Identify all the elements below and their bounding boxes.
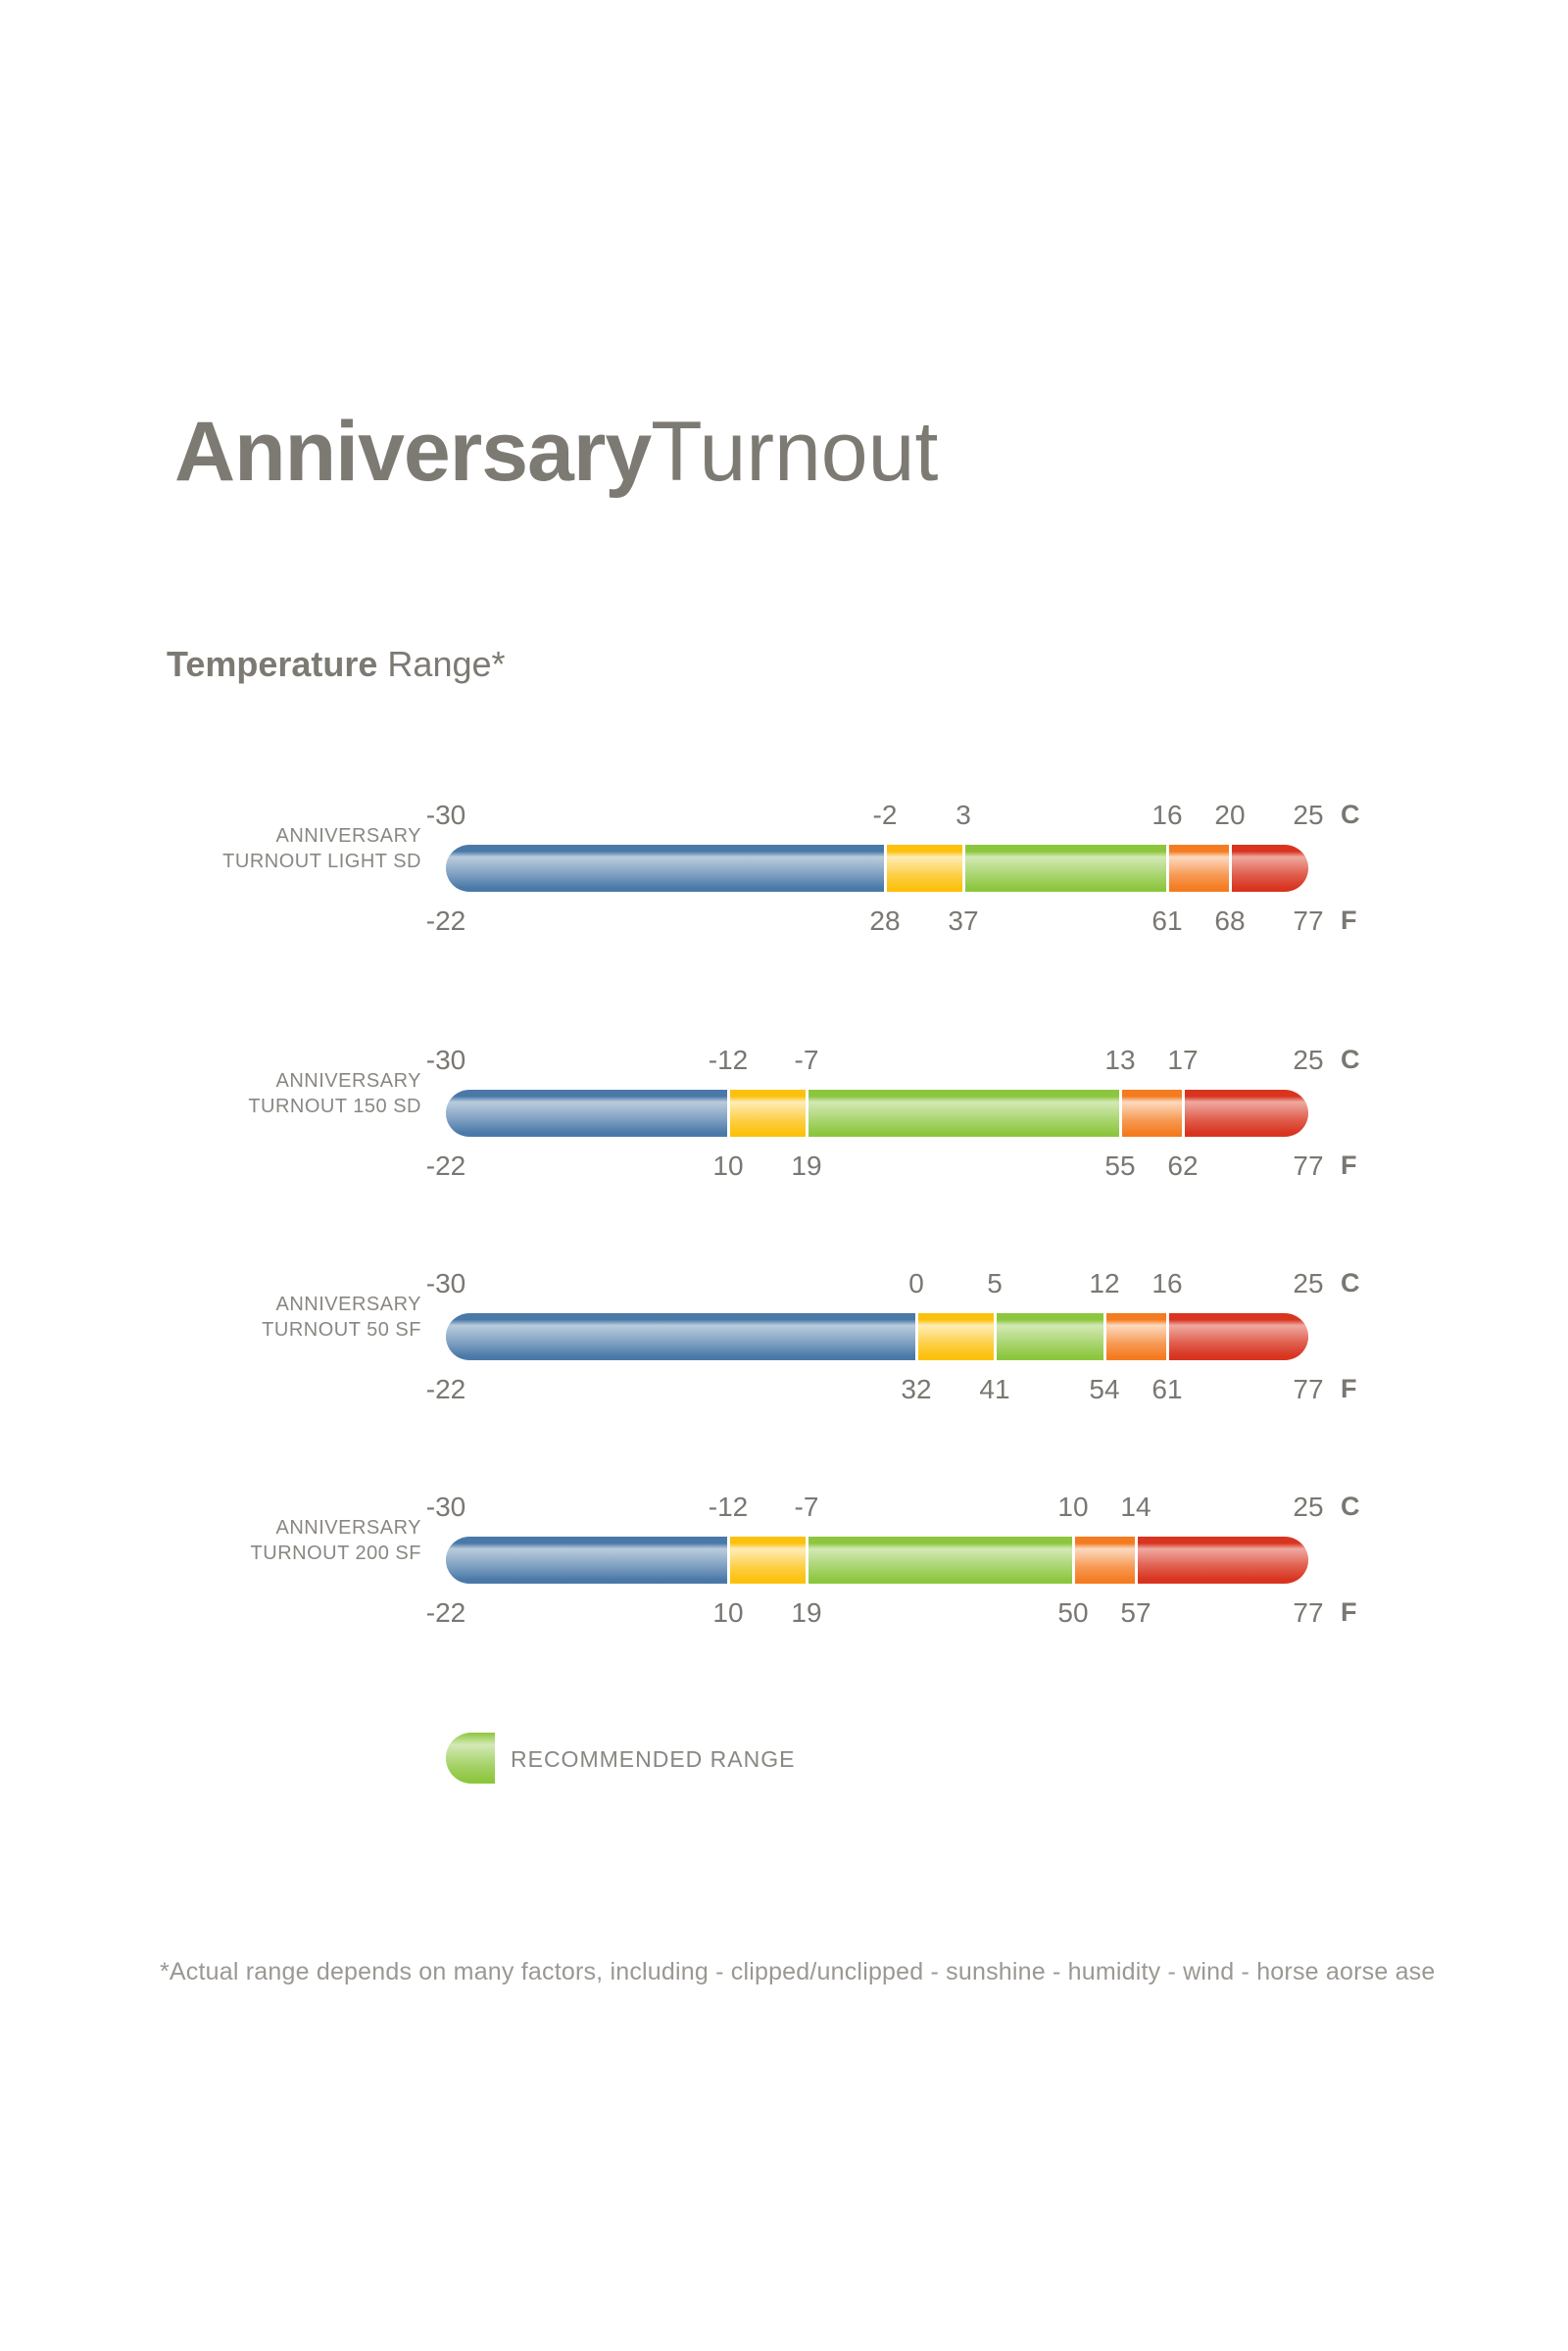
tick-fahrenheit: -22 [426,906,465,937]
tick-celsius: 13 [1104,1045,1135,1076]
tick-fahrenheit: 62 [1167,1151,1198,1182]
tick-fahrenheit: -22 [426,1374,465,1405]
tick-fahrenheit: 77 [1293,1597,1323,1629]
tick-fahrenheit: 54 [1089,1374,1119,1405]
title-light: Turnout [651,405,938,499]
tick-celsius: -12 [709,1045,748,1076]
tick-fahrenheit: 32 [901,1374,931,1405]
unit-label-celsius: C [1341,1045,1360,1075]
tick-celsius: -2 [873,800,898,831]
row-label-line2: TURNOUT LIGHT SD [127,849,421,874]
unit-label-celsius: C [1341,800,1360,830]
temperature-bar [446,1537,1308,1584]
tick-celsius: 12 [1089,1268,1119,1299]
row-label-line2: TURNOUT 150 SD [127,1094,421,1119]
row-product-label: ANNIVERSARYTURNOUT 50 SF [127,1292,421,1343]
tick-celsius: 17 [1167,1045,1198,1076]
segment-divider [727,1090,730,1137]
temperature-row: ANNIVERSARYTURNOUT 150 SD-30-12-7131725-… [0,1019,1568,1186]
tick-fahrenheit: 19 [791,1597,821,1629]
segment-divider [1229,845,1232,892]
bar-segment-too-cold [446,1090,728,1137]
infographic-page: AnniversaryTurnout Temperature Range* AN… [0,0,1568,2351]
tick-celsius: 14 [1120,1492,1151,1523]
bar-segment-too-cold [446,1313,916,1360]
tick-fahrenheit: 77 [1293,906,1323,937]
segment-divider [884,845,887,892]
title-bold: Anniversary [174,405,651,499]
segment-divider [1072,1537,1075,1584]
bar-segment-too-warm [1230,845,1308,892]
segment-divider [994,1313,997,1360]
segment-divider [962,845,965,892]
tick-celsius: -12 [709,1492,748,1523]
tick-fahrenheit: 41 [979,1374,1009,1405]
tick-celsius: 0 [908,1268,924,1299]
bar-segment-recommended-range [807,1537,1073,1584]
tick-fahrenheit: -22 [426,1151,465,1182]
bar-segment-warm [1120,1090,1183,1137]
tick-fahrenheit: 61 [1151,906,1182,937]
page-title: AnniversaryTurnout [174,410,938,494]
bar-segment-recommended-range [995,1313,1104,1360]
tick-fahrenheit: 19 [791,1151,821,1182]
unit-label-celsius: C [1341,1268,1360,1298]
bar-segment-cool [916,1313,995,1360]
temperature-bar [446,1313,1308,1360]
row-label-line2: TURNOUT 200 SF [127,1541,421,1566]
row-label-line1: ANNIVERSARY [127,823,421,849]
tick-celsius: 16 [1151,1268,1182,1299]
bar-segment-too-warm [1167,1313,1308,1360]
row-product-label: ANNIVERSARYTURNOUT LIGHT SD [127,823,421,874]
row-label-line1: ANNIVERSARY [127,1292,421,1317]
unit-label-celsius: C [1341,1492,1360,1522]
bar-segment-recommended-range [963,845,1167,892]
segment-divider [1166,1313,1169,1360]
segment-divider [1182,1090,1185,1137]
tick-fahrenheit: 68 [1214,906,1245,937]
tick-celsius: 5 [987,1268,1003,1299]
tick-fahrenheit: 10 [712,1151,743,1182]
tick-fahrenheit: 10 [712,1597,743,1629]
tick-celsius: -7 [795,1045,819,1076]
tick-fahrenheit: 55 [1104,1151,1135,1182]
tick-celsius: 25 [1293,1492,1323,1523]
tick-celsius: -30 [426,1492,465,1523]
bar-segment-cool [728,1090,807,1137]
tick-celsius: -7 [795,1492,819,1523]
bar-segment-too-warm [1136,1537,1308,1584]
temperature-bar [446,1090,1308,1137]
tick-celsius: 25 [1293,800,1323,831]
legend-swatch-green [446,1733,495,1784]
tick-celsius: 3 [955,800,971,831]
tick-celsius: 25 [1293,1268,1323,1299]
bar-segment-warm [1073,1537,1136,1584]
subtitle-light: Range* [387,644,505,684]
tick-celsius: 16 [1151,800,1182,831]
bar-segment-warm [1104,1313,1167,1360]
segment-divider [1135,1537,1138,1584]
bar-segment-too-cold [446,845,885,892]
tick-fahrenheit: 37 [948,906,978,937]
tick-celsius: -30 [426,1045,465,1076]
temperature-bar [446,845,1308,892]
temperature-row: ANNIVERSARYTURNOUT LIGHT SD-30-23162025-… [0,774,1568,941]
tick-celsius: 10 [1057,1492,1088,1523]
row-label-line2: TURNOUT 50 SF [127,1317,421,1343]
bar-segment-cool [728,1537,807,1584]
subtitle-bold: Temperature [167,644,377,684]
bar-segment-recommended-range [807,1090,1120,1137]
tick-fahrenheit: 28 [869,906,900,937]
row-product-label: ANNIVERSARYTURNOUT 200 SF [127,1515,421,1566]
legend-label: RECOMMENDED RANGE [511,1746,795,1773]
footnote: *Actual range depends on many factors, i… [160,1958,1435,1986]
segment-divider [915,1313,918,1360]
row-label-line1: ANNIVERSARY [127,1068,421,1094]
tick-celsius: -30 [426,1268,465,1299]
tick-fahrenheit: 50 [1057,1597,1088,1629]
bar-segment-too-warm [1183,1090,1308,1137]
segment-divider [1103,1313,1106,1360]
row-label-line1: ANNIVERSARY [127,1515,421,1541]
bar-segment-too-cold [446,1537,728,1584]
bar-segment-warm [1167,845,1230,892]
tick-celsius: 25 [1293,1045,1323,1076]
temperature-row: ANNIVERSARYTURNOUT 50 SF-3005121625-2232… [0,1243,1568,1409]
bar-segment-cool [885,845,963,892]
segment-divider [806,1090,808,1137]
tick-celsius: 20 [1214,800,1245,831]
row-product-label: ANNIVERSARYTURNOUT 150 SD [127,1068,421,1119]
unit-label-fahrenheit: F [1341,906,1357,936]
tick-fahrenheit: 77 [1293,1374,1323,1405]
segment-divider [1166,845,1169,892]
tick-fahrenheit: 61 [1151,1374,1182,1405]
unit-label-fahrenheit: F [1341,1597,1357,1628]
tick-fahrenheit: 77 [1293,1151,1323,1182]
tick-fahrenheit: 57 [1120,1597,1151,1629]
segment-divider [1119,1090,1122,1137]
unit-label-fahrenheit: F [1341,1151,1357,1181]
temperature-row: ANNIVERSARYTURNOUT 200 SF-30-12-7101425-… [0,1466,1568,1633]
section-subtitle: Temperature Range* [167,647,506,682]
unit-label-fahrenheit: F [1341,1374,1357,1404]
tick-celsius: -30 [426,800,465,831]
tick-fahrenheit: -22 [426,1597,465,1629]
segment-divider [727,1537,730,1584]
segment-divider [806,1537,808,1584]
